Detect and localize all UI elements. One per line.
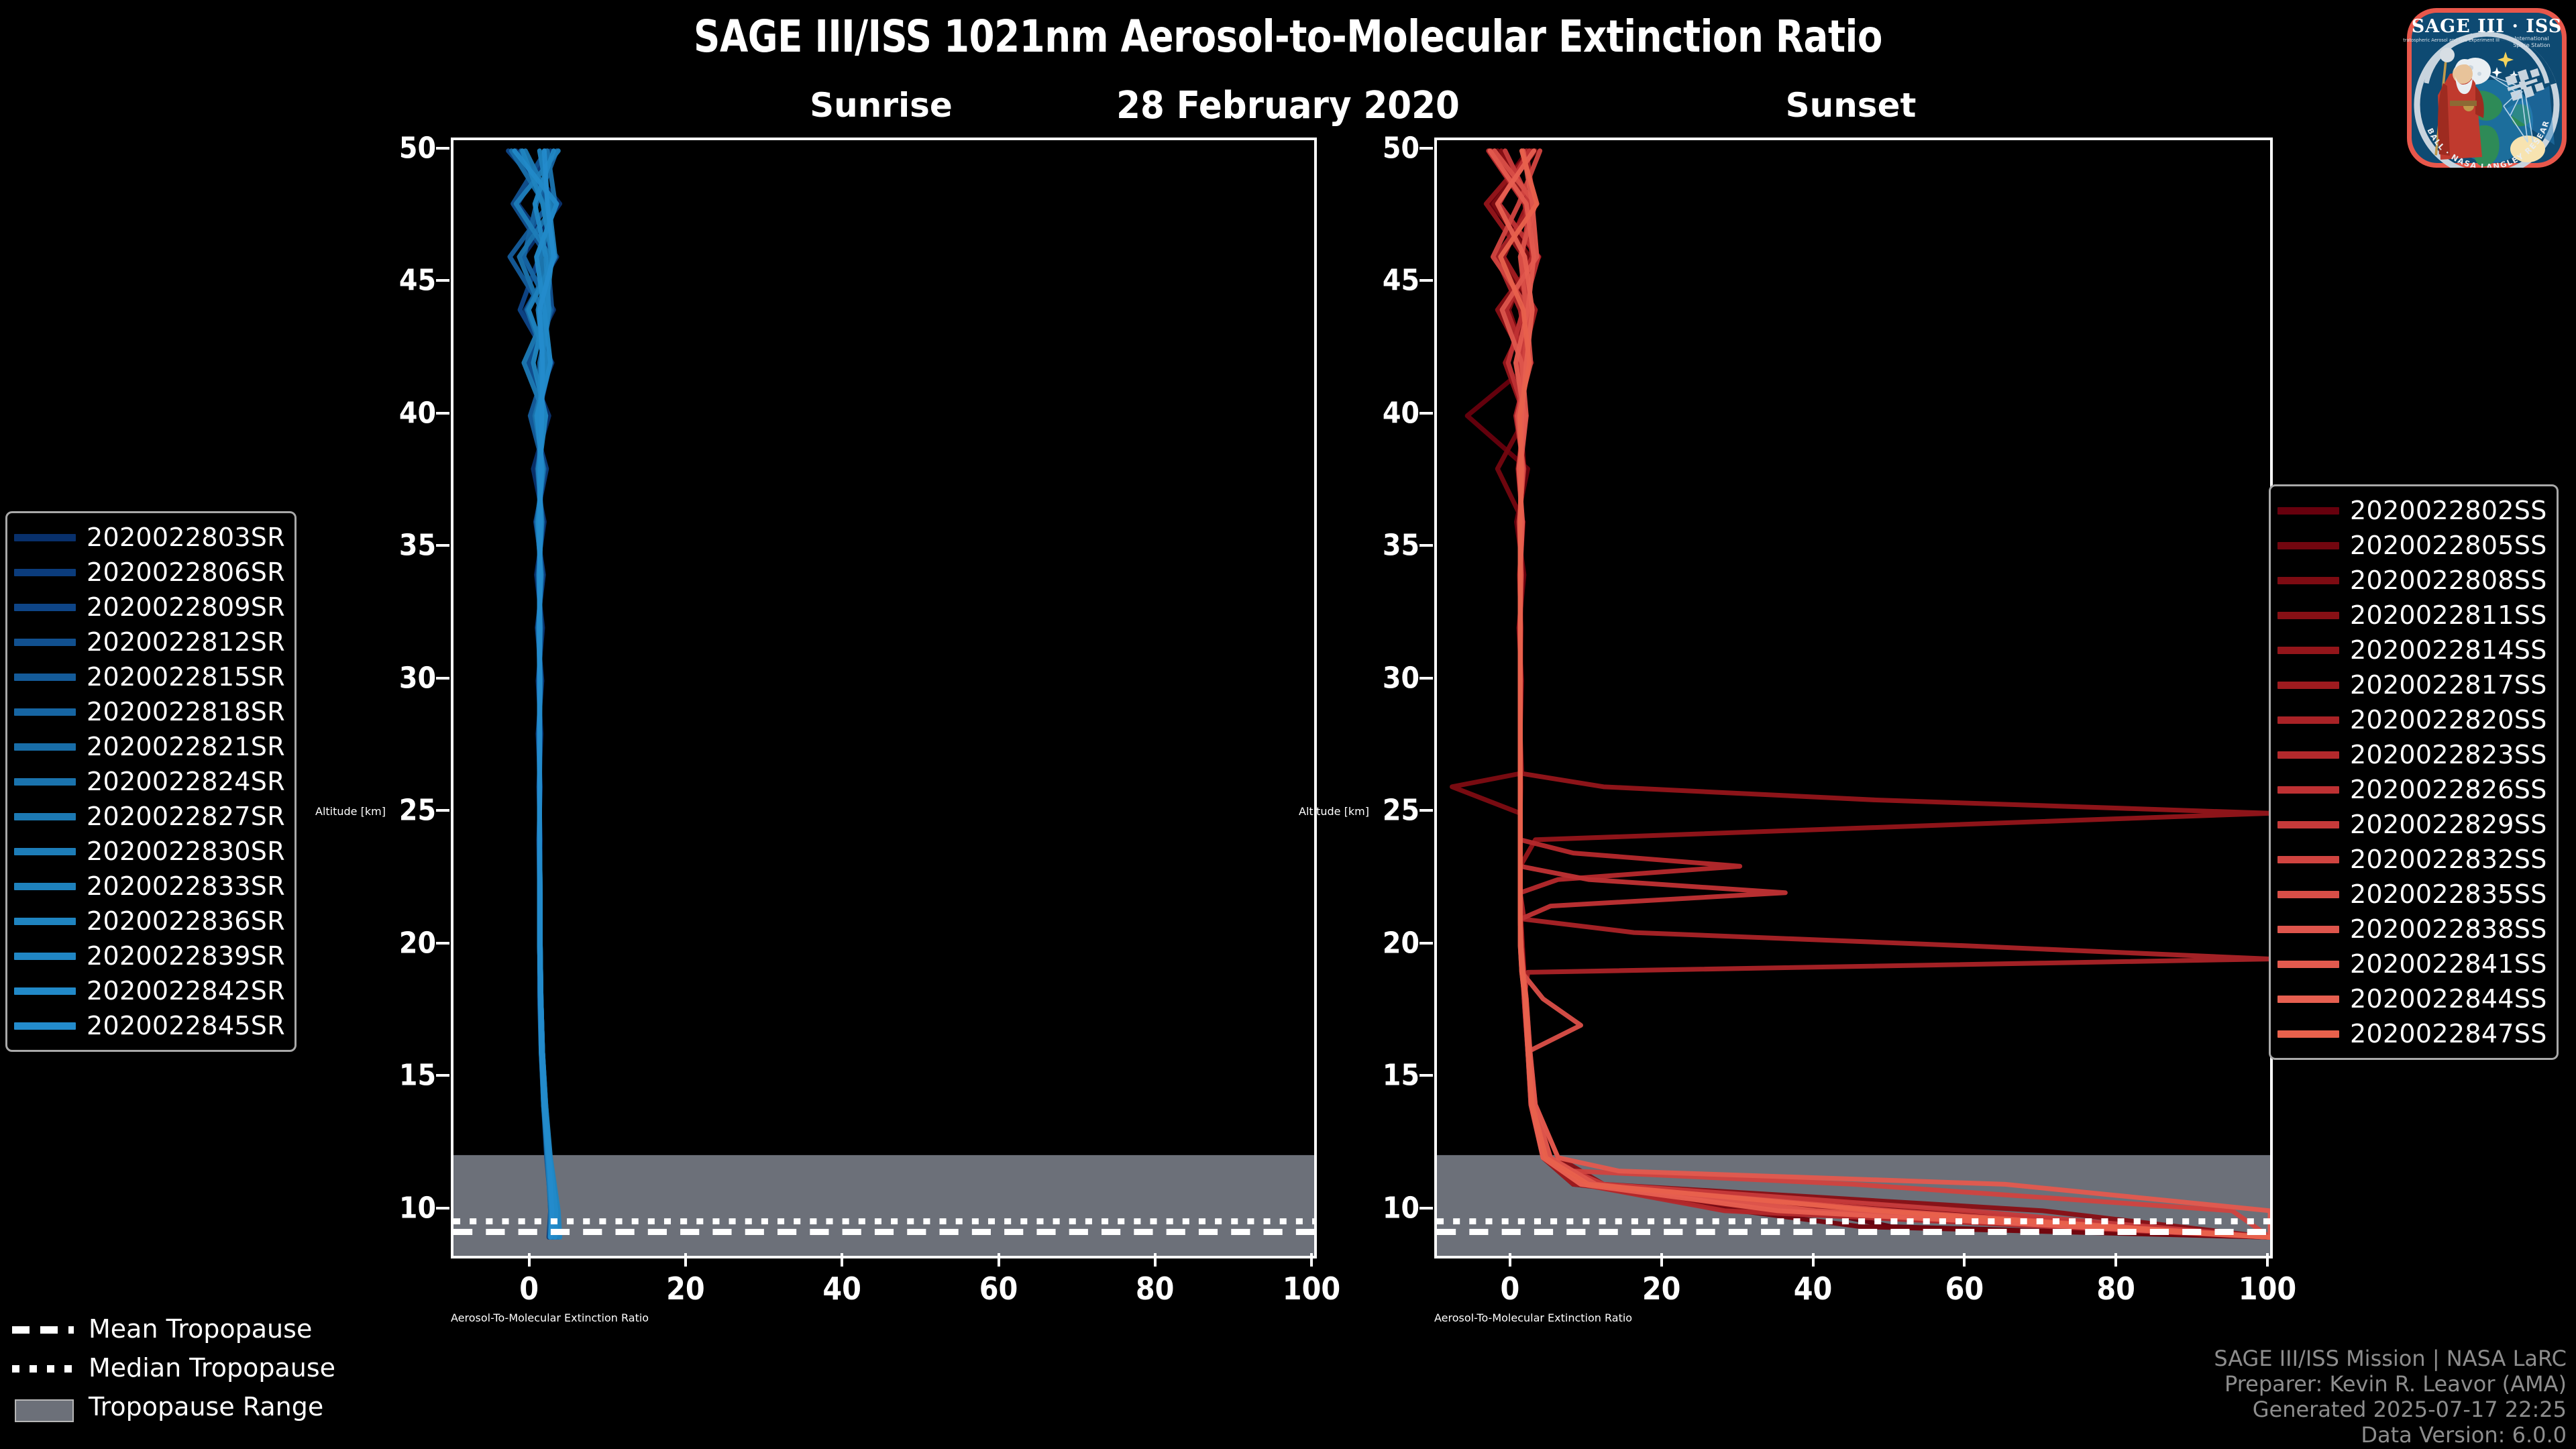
legend-item[interactable]: 2020022817SS (2277, 667, 2547, 702)
legend-color-swatch (2277, 786, 2339, 794)
legend-color-swatch (14, 987, 76, 995)
legend-color-swatch (14, 639, 76, 646)
legend-item-label: 2020022803SR (87, 523, 285, 552)
legend-color-swatch (2277, 996, 2339, 1003)
x-tick-label: 0 (476, 1271, 583, 1307)
sunrise-y-axis-label: Altitude [km] (315, 805, 386, 818)
sunrise-plot-area (451, 138, 1317, 1258)
legend-color-swatch (14, 708, 76, 716)
legend-item-label: 2020022812SR (87, 627, 285, 657)
x-tick-mark (1660, 1253, 1663, 1267)
sunrise-profile-lines (453, 140, 1314, 1256)
legend-color-swatch (14, 778, 76, 786)
x-tick-label: 60 (1911, 1271, 2018, 1307)
legend-item[interactable]: 2020022811SS (2277, 598, 2547, 633)
y-tick-label: 50 (399, 131, 436, 165)
legend-item-label: 2020022809SR (87, 592, 285, 622)
x-tick-mark (1310, 1253, 1313, 1267)
legend-color-swatch (2277, 1030, 2339, 1038)
x-tick-mark (2266, 1253, 2269, 1267)
y-tick-label: 35 (399, 529, 436, 563)
legend-item[interactable]: 2020022806SR (14, 555, 285, 590)
y-tick-label: 50 (1383, 131, 1419, 165)
legend-item[interactable]: 2020022809SR (14, 590, 285, 625)
legend-item[interactable]: 2020022844SS (2277, 981, 2547, 1016)
legend-item[interactable]: 2020022803SR (14, 520, 285, 555)
y-tick-mark (436, 544, 449, 547)
legend-item-label: 2020022841SS (2350, 949, 2547, 979)
y-tick-label: 45 (399, 264, 436, 298)
legend-item-label: 2020022824SR (87, 767, 285, 796)
legend-item-label: 2020022815SR (87, 662, 285, 692)
y-tick-label: 20 (399, 926, 436, 960)
logo-subtitle-right-2: Space Station (2513, 42, 2550, 48)
legend-item[interactable]: 2020022842SR (14, 973, 285, 1008)
y-tick-label: 40 (1383, 396, 1419, 430)
legend-item-label: 2020022839SR (87, 941, 285, 971)
legend-color-swatch (2277, 891, 2339, 898)
x-tick-label: 40 (788, 1271, 896, 1307)
legend-item-label: 2020022808SS (2350, 566, 2547, 595)
sunrise-y-axis-ticks: 101520253035404550 (362, 138, 436, 1253)
legend-item-label: 2020022821SR (87, 732, 285, 761)
legend-item[interactable]: 2020022841SS (2277, 947, 2547, 981)
y-tick-mark (1419, 412, 1433, 415)
legend-item-label: 2020022827SR (87, 802, 285, 831)
legend-item-label: 2020022838SS (2350, 914, 2547, 944)
legend-item[interactable]: 2020022839SR (14, 938, 285, 973)
y-tick-label: 20 (1383, 926, 1419, 960)
sunset-y-axis-label: Altitude [km] (1299, 805, 1369, 818)
legend-item-label: 2020022835SS (2350, 879, 2547, 909)
x-tick-mark (528, 1253, 531, 1267)
sunset-legend[interactable]: 2020022802SS2020022805SS2020022808SS2020… (2269, 484, 2559, 1060)
legend-item[interactable]: 2020022833SR (14, 869, 285, 904)
credit-line: SAGE III/ISS Mission | NASA LaRC (2214, 1346, 2567, 1371)
y-tick-label: 15 (1383, 1059, 1419, 1093)
legend-item[interactable]: 2020022815SR (14, 659, 285, 694)
sunset-y-axis-ticks: 101520253035404550 (1346, 138, 1419, 1253)
x-tick-mark (841, 1253, 843, 1267)
page-title: SAGE III/ISS 1021nm Aerosol-to-Molecular… (103, 11, 2473, 62)
y-tick-label: 10 (399, 1191, 436, 1225)
x-tick-mark (684, 1253, 687, 1267)
y-tick-mark (1419, 809, 1433, 812)
x-tick-label: 0 (1456, 1271, 1564, 1307)
filled-band-icon (12, 1398, 74, 1415)
legend-color-swatch (2277, 612, 2339, 619)
y-tick-mark (1419, 544, 1433, 547)
legend-item-label: 2020022817SS (2350, 670, 2547, 700)
legend-color-swatch (2277, 751, 2339, 759)
y-tick-mark (436, 1207, 449, 1210)
legend-color-swatch (14, 918, 76, 925)
x-tick-label: 20 (632, 1271, 739, 1307)
legend-item-label: 2020022811SS (2350, 600, 2547, 630)
legend-item[interactable]: 2020022805SS (2277, 528, 2547, 563)
y-tick-mark (436, 412, 449, 415)
y-tick-label: 30 (1383, 661, 1419, 695)
legend-item[interactable]: 2020022814SS (2277, 633, 2547, 667)
legend-item-label: 2020022818SR (87, 697, 285, 727)
legend-color-swatch (2277, 961, 2339, 968)
y-tick-mark (1419, 147, 1433, 150)
legend-color-swatch (14, 604, 76, 611)
legend-color-swatch (14, 848, 76, 855)
credit-line: Data Version: 6.0.0 (2214, 1422, 2567, 1448)
legend-color-swatch (2277, 821, 2339, 828)
legend-item-label: 2020022820SS (2350, 705, 2547, 735)
y-tick-label: 35 (1383, 529, 1419, 563)
legend-item[interactable]: 2020022827SR (14, 799, 285, 834)
sunrise-x-axis-ticks: 020406080100 (451, 1253, 1311, 1313)
legend-item-label: 2020022823SS (2350, 740, 2547, 769)
x-tick-mark (1963, 1253, 1966, 1267)
legend-item[interactable]: 2020022835SS (2277, 877, 2547, 912)
legend-item[interactable]: 2020022812SR (14, 625, 285, 659)
tropopause-legend-label: Tropopause Range (89, 1392, 323, 1421)
legend-item[interactable]: 2020022818SR (14, 694, 285, 729)
y-tick-label: 15 (399, 1059, 436, 1093)
y-tick-label: 25 (1383, 794, 1419, 828)
x-tick-mark (1154, 1253, 1157, 1267)
y-tick-mark (436, 1074, 449, 1077)
tropopause-legend-item: Tropopause Range (12, 1387, 335, 1426)
x-tick-mark (998, 1253, 1000, 1267)
x-tick-label: 20 (1608, 1271, 1715, 1307)
y-tick-mark (1419, 1074, 1433, 1077)
legend-item-label: 2020022802SS (2350, 496, 2547, 525)
logo-title: SAGE III · ISS (2412, 16, 2563, 37)
legend-item[interactable]: 2020022808SS (2277, 563, 2547, 598)
legend-color-swatch (2277, 856, 2339, 863)
legend-item[interactable]: 2020022802SS (2277, 493, 2547, 528)
legend-color-swatch (2277, 926, 2339, 933)
legend-color-swatch (14, 953, 76, 960)
legend-color-swatch (2277, 682, 2339, 689)
legend-item-label: 2020022844SS (2350, 984, 2547, 1014)
legend-item[interactable]: 2020022836SR (14, 904, 285, 938)
y-tick-mark (436, 809, 449, 812)
y-tick-label: 25 (399, 794, 436, 828)
legend-item-label: 2020022836SR (87, 906, 285, 936)
y-tick-mark (1419, 942, 1433, 945)
legend-item[interactable]: 2020022824SR (14, 764, 285, 799)
legend-item-label: 2020022826SS (2350, 775, 2547, 804)
sunset-profile-lines (1437, 140, 2270, 1256)
legend-item[interactable]: 2020022829SS (2277, 807, 2547, 842)
legend-item-label: 2020022806SR (87, 557, 285, 587)
legend-item[interactable]: 2020022820SS (2277, 702, 2547, 737)
legend-color-swatch (14, 674, 76, 681)
y-tick-label: 45 (1383, 264, 1419, 298)
y-tick-mark (436, 677, 449, 680)
legend-item[interactable]: 2020022838SS (2277, 912, 2547, 947)
tropopause-legend-label: Mean Tropopause (89, 1314, 312, 1344)
sunset-x-axis-ticks: 020406080100 (1434, 1253, 2267, 1313)
y-tick-mark (1419, 279, 1433, 282)
y-tick-label: 40 (399, 396, 436, 430)
y-tick-mark (436, 279, 449, 282)
y-tick-mark (1419, 677, 1433, 680)
legend-color-swatch (2277, 647, 2339, 654)
legend-item-label: 2020022833SR (87, 871, 285, 901)
dashed-line-icon (12, 1320, 74, 1338)
legend-item[interactable]: 2020022823SS (2277, 737, 2547, 772)
x-tick-label: 80 (1102, 1271, 1209, 1307)
logo-subtitle-right-1: International (2514, 36, 2548, 42)
y-tick-mark (436, 942, 449, 945)
legend-item[interactable]: 2020022845SR (14, 1008, 285, 1043)
sage-iii-iss-mission-patch-logo: BALL · NASA LANGLEY RESEARCH CENTER · ES… (2403, 4, 2571, 172)
y-tick-label: 10 (1383, 1191, 1419, 1225)
legend-item-label: 2020022829SS (2350, 810, 2547, 839)
legend-color-swatch (2277, 542, 2339, 549)
legend-item-label: 2020022814SS (2350, 635, 2547, 665)
legend-color-swatch (14, 534, 76, 541)
sunset-panel-heading: Sunset (1434, 86, 2267, 125)
legend-color-swatch (14, 743, 76, 751)
x-tick-mark (2114, 1253, 2117, 1267)
tropopause-legend-item: Median Tropopause (12, 1348, 335, 1387)
legend-item-label: 2020022847SS (2350, 1019, 2547, 1049)
tropopause-legend: Mean TropopauseMedian TropopauseTropopau… (12, 1309, 335, 1426)
logo-subtitle-left: Stratospheric Aerosol and Gas Experiment… (2403, 38, 2500, 43)
y-tick-label: 30 (399, 661, 436, 695)
legend-color-swatch (14, 569, 76, 576)
tropopause-legend-label: Median Tropopause (89, 1353, 335, 1383)
legend-item[interactable]: 2020022830SR (14, 834, 285, 869)
x-tick-label: 40 (1760, 1271, 1867, 1307)
legend-item-label: 2020022832SS (2350, 845, 2547, 874)
legend-item[interactable]: 2020022821SR (14, 729, 285, 764)
legend-color-swatch (2277, 577, 2339, 584)
credit-line: Preparer: Kevin R. Leavor (AMA) (2214, 1371, 2567, 1397)
sunrise-panel-heading: Sunrise (451, 86, 1311, 125)
x-tick-label: 100 (2214, 1271, 2321, 1307)
sunrise-legend[interactable]: 2020022803SR2020022806SR2020022809SR2020… (5, 511, 297, 1052)
dotted-line-icon (12, 1359, 74, 1377)
legend-item[interactable]: 2020022847SS (2277, 1016, 2547, 1051)
tropopause-legend-item: Mean Tropopause (12, 1309, 335, 1348)
legend-item-label: 2020022805SS (2350, 531, 2547, 560)
legend-item[interactable]: 2020022826SS (2277, 772, 2547, 807)
x-tick-label: 80 (2062, 1271, 2169, 1307)
x-tick-label: 100 (1258, 1271, 1365, 1307)
credit-line: Generated 2025-07-17 22:25 (2214, 1397, 2567, 1422)
x-tick-mark (1812, 1253, 1815, 1267)
legend-color-swatch (2277, 507, 2339, 515)
legend-item-label: 2020022842SR (87, 976, 285, 1006)
legend-item-label: 2020022830SR (87, 837, 285, 866)
credits-block: SAGE III/ISS Mission | NASA LaRCPreparer… (2214, 1346, 2567, 1448)
legend-item-label: 2020022845SR (87, 1011, 285, 1040)
x-tick-label: 60 (945, 1271, 1053, 1307)
sunset-plot-area (1434, 138, 2273, 1258)
y-tick-mark (1419, 1207, 1433, 1210)
legend-color-swatch (2277, 716, 2339, 724)
legend-color-swatch (14, 883, 76, 890)
x-tick-mark (1509, 1253, 1511, 1267)
y-tick-mark (436, 147, 449, 150)
legend-color-swatch (14, 1022, 76, 1030)
legend-color-swatch (14, 813, 76, 820)
legend-item[interactable]: 2020022832SS (2277, 842, 2547, 877)
